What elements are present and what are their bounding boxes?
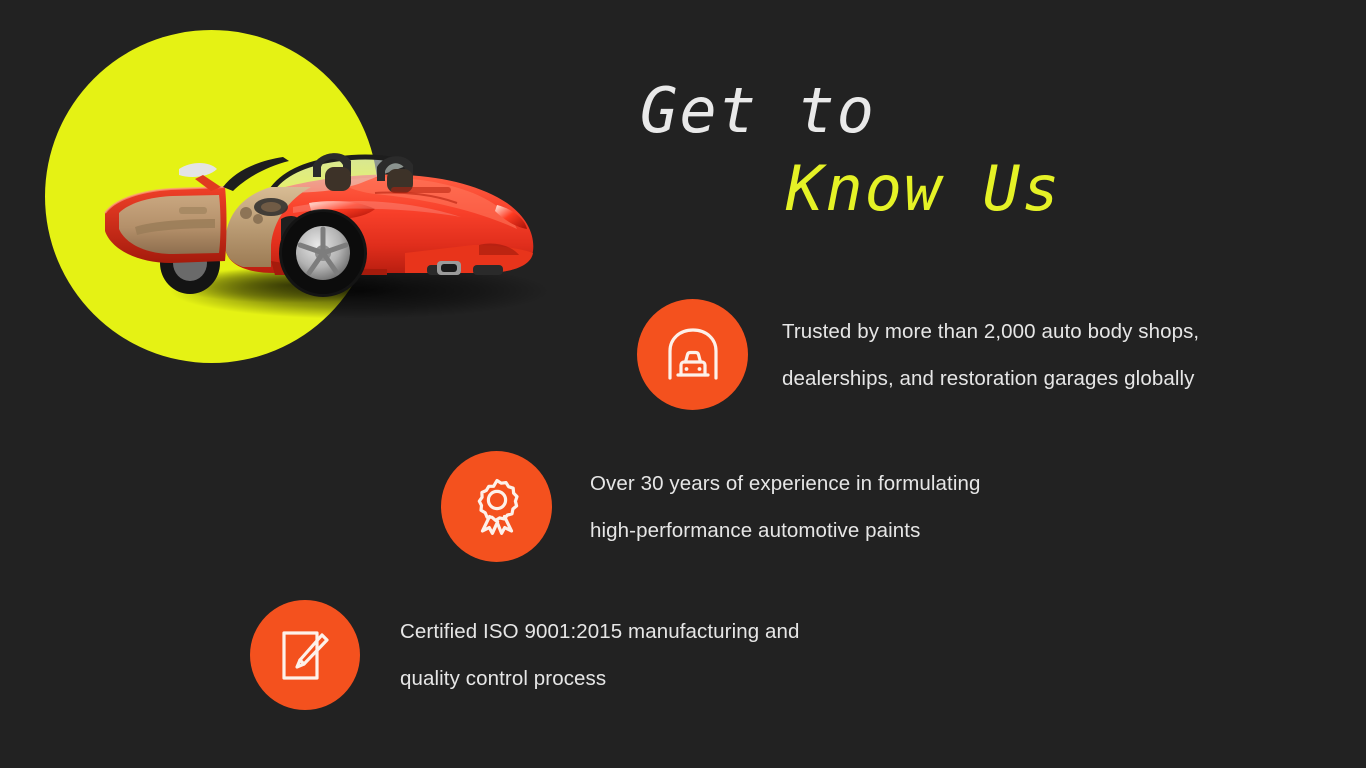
- car-image: [75, 95, 585, 320]
- feature-text-certified: Certified ISO 9001:2015 manufacturing an…: [400, 608, 800, 702]
- award-ribbon-icon: [441, 451, 552, 562]
- page-title: Get to Know Us: [640, 72, 1340, 228]
- feature-text-line-1: Certified ISO 9001:2015 manufacturing an…: [400, 608, 800, 655]
- feature-item-certified: Certified ISO 9001:2015 manufacturing an…: [250, 600, 800, 710]
- garage-car-icon: [637, 299, 748, 410]
- feature-text-trusted: Trusted by more than 2,000 auto body sho…: [782, 308, 1199, 402]
- feature-text-line-1: Over 30 years of experience in formulati…: [590, 460, 980, 507]
- title-line-2: Know Us: [640, 150, 1340, 228]
- title-line-1: Get to: [640, 72, 1340, 150]
- feature-item-trusted: Trusted by more than 2,000 auto body sho…: [637, 299, 1199, 410]
- feature-item-experience: Over 30 years of experience in formulati…: [441, 451, 980, 562]
- hero-visual: [0, 0, 620, 400]
- feature-text-line-2: quality control process: [400, 655, 800, 702]
- slide-canvas: Get to Know Us Trusted by more than 2,00…: [0, 0, 1366, 768]
- feature-text-line-2: high-performance automotive paints: [590, 507, 980, 554]
- feature-text-line-2: dealerships, and restoration garages glo…: [782, 355, 1199, 402]
- document-pencil-icon: [250, 600, 360, 710]
- feature-text-line-1: Trusted by more than 2,000 auto body sho…: [782, 308, 1199, 355]
- feature-text-experience: Over 30 years of experience in formulati…: [590, 460, 980, 554]
